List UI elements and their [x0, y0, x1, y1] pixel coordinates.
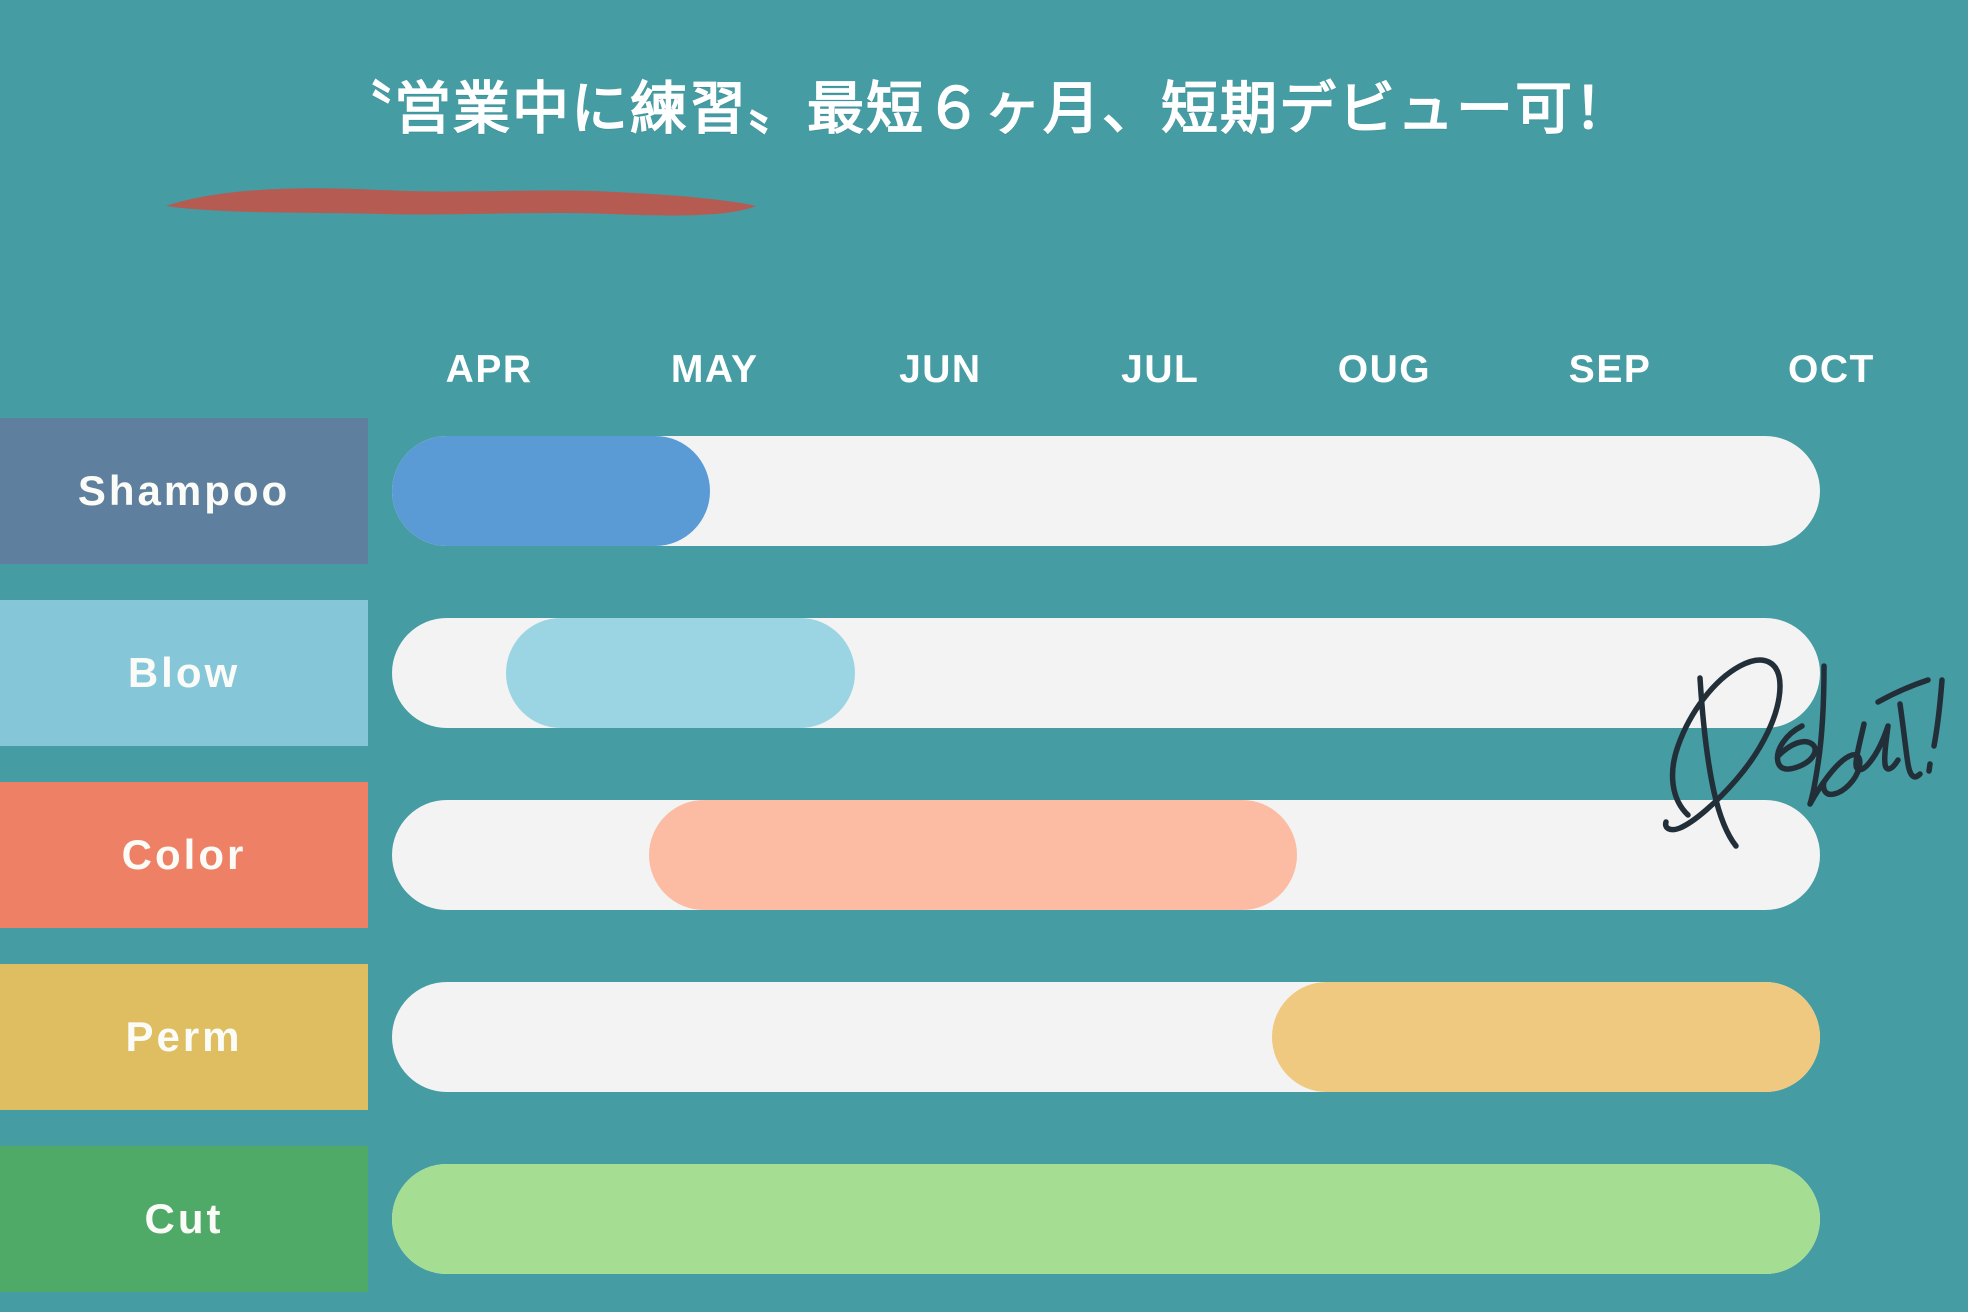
row-bar-color — [649, 800, 1297, 910]
row-label-blow: Blow — [0, 600, 368, 746]
month-label-jun: JUN — [899, 348, 982, 392]
row-track-shampoo — [392, 436, 1820, 546]
row-track-color — [392, 800, 1820, 910]
table-row: Cut — [0, 1146, 1968, 1292]
row-label-text: Perm — [125, 1013, 242, 1061]
table-row: Shampoo — [0, 418, 1968, 564]
timeline-rows: Shampoo Blow Color Perm — [0, 418, 1968, 1292]
row-track-perm — [392, 982, 1820, 1092]
table-row: Blow — [0, 600, 1968, 746]
poster-canvas: 〝営業中に練習〟最短６ヶ月、短期デビュー可！ APR MAY JUN JUL O… — [0, 0, 1968, 1312]
month-label-sep: SEP — [1569, 348, 1652, 392]
month-label-oct: OCT — [1788, 348, 1875, 392]
month-label-apr: APR — [446, 348, 533, 392]
row-label-color: Color — [0, 782, 368, 928]
row-label-text: Cut — [145, 1195, 224, 1243]
brush-underline-icon — [160, 176, 762, 220]
table-row: Color — [0, 782, 1968, 928]
page-title-text: 〝営業中に練習〟最短６ヶ月、短期デビュー可！ — [335, 78, 1633, 141]
row-bar-shampoo — [392, 436, 710, 546]
month-label-oug: OUG — [1338, 348, 1431, 392]
row-bar-blow — [506, 618, 854, 728]
row-bar-cut — [392, 1164, 1820, 1274]
row-bar-perm — [1272, 982, 1820, 1092]
row-track-blow — [392, 618, 1820, 728]
row-label-shampoo: Shampoo — [0, 418, 368, 564]
month-label-may: MAY — [671, 348, 759, 392]
table-row: Perm — [0, 964, 1968, 1110]
row-label-perm: Perm — [0, 964, 368, 1110]
row-track-cut — [392, 1164, 1820, 1274]
row-label-text: Blow — [128, 649, 240, 697]
row-label-text: Shampoo — [78, 467, 290, 515]
row-label-text: Color — [122, 831, 247, 879]
row-label-cut: Cut — [0, 1146, 368, 1292]
month-axis: APR MAY JUN JUL OUG SEP OCT — [392, 348, 1820, 406]
month-label-jul: JUL — [1121, 348, 1199, 392]
page-title: 〝営業中に練習〟最短６ヶ月、短期デビュー可！ — [0, 78, 1968, 141]
